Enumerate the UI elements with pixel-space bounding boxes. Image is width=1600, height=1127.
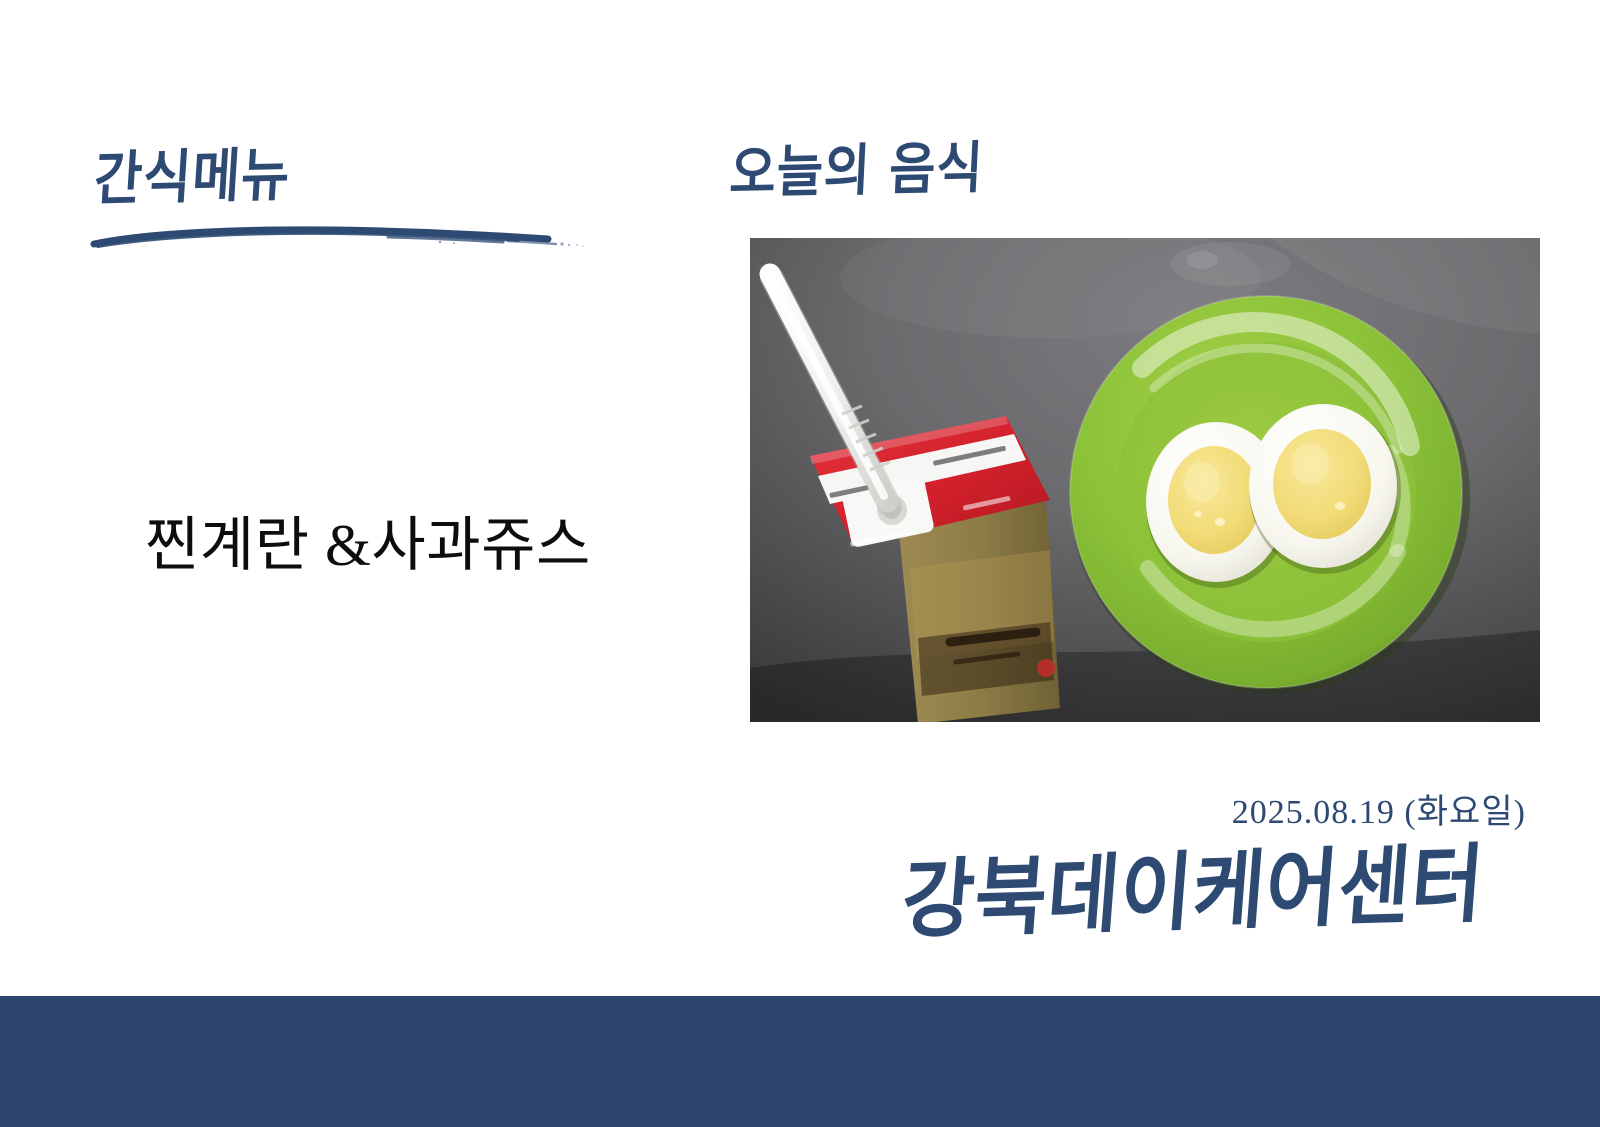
brush-underline-decoration — [88, 222, 588, 256]
bottom-accent-bar — [0, 996, 1600, 1127]
menu-item-label: 찐계란 &사과쥬스 — [145, 497, 591, 582]
food-photo — [750, 238, 1540, 722]
food-photo-illustration — [750, 238, 1540, 722]
brush-underline-icon — [88, 222, 588, 256]
today-food-heading: 오늘의 음식 — [728, 123, 986, 209]
poster-page: 간식메뉴 오늘의 음식 찐계란 &사과쥬스 — [0, 0, 1600, 1127]
center-name-signature: 강북데이케어센터 — [898, 816, 1489, 955]
snack-menu-heading: 간식메뉴 — [92, 127, 293, 216]
